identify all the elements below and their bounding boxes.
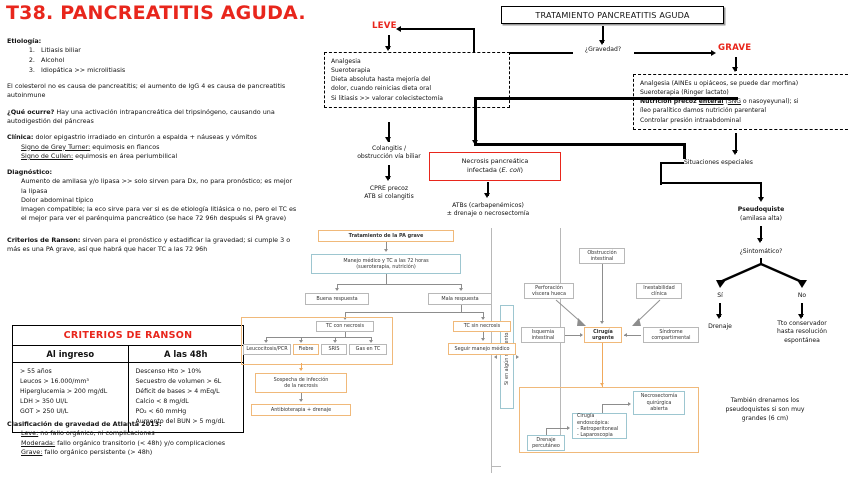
sintomatico-question: ¿Sintomático? — [712, 248, 810, 256]
page-title: T38. PANCREATITIS AGUDA. — [6, 2, 306, 24]
arrow-down-icon — [459, 288, 463, 291]
arrow-down-icon — [333, 340, 337, 343]
atlanta-heading: Clasificación de gravedad de Atlanta 201… — [7, 420, 297, 429]
conservador-line1: Tto conservador — [777, 320, 827, 327]
signo-cullen-text: equimosis en área periumbilical — [73, 152, 177, 160]
table-row: Calcio < 8 mg/dL — [136, 397, 239, 407]
endoscopica-line1: Cirugía endoscópica: — [577, 413, 624, 426]
conservador-label: Tto conservadorhasta resoluciónespontáne… — [756, 320, 848, 345]
clinica-label: Clínica: — [7, 133, 33, 141]
nota-line2: pseudoquistes si son muy — [725, 406, 804, 413]
arrow-down-icon — [599, 40, 605, 45]
arrow-down-icon — [600, 383, 604, 386]
cpre-line2: ATB si colangitis — [364, 193, 414, 200]
tc-sin-necrosis-box: TC sin necrosis — [453, 321, 511, 332]
grave-line: íleo paralítico damos nutrición parenter… — [640, 106, 846, 115]
obstruccion-intestinal-box: Obstrucciónintestinal — [579, 248, 625, 264]
atlanta-item: Moderada: fallo orgánico transitorio (< … — [21, 439, 297, 448]
leve-line: Analgesia — [331, 57, 503, 66]
column-header: Al ingreso — [13, 346, 129, 362]
arrow-right-icon — [628, 402, 631, 406]
atlanta-item-text: no fallo orgánico, ni complicaciones — [38, 429, 154, 437]
table-row: > 55 años — [20, 367, 123, 377]
connector-cirugia-opciones — [602, 343, 603, 387]
arrow-down-icon — [335, 288, 339, 291]
split-bar-tc — [345, 312, 484, 313]
arrow-down-icon — [385, 46, 391, 51]
connector-endoscopica-right — [602, 404, 628, 405]
que-ocurre-paragraph: ¿Qué ocurre? Hay una activación intrapan… — [7, 108, 297, 127]
arrow-left-icon — [396, 26, 401, 32]
column-header: A las 48h — [129, 346, 244, 362]
colangitis-line2: obstrucción vía biliar — [357, 153, 421, 160]
sindrome-line2: compartimental — [652, 335, 691, 341]
atbs-line2: ± drenaje o necrosectomía — [447, 210, 530, 217]
diagnostico-item: Imagen compatible; la eco sirve para ver… — [21, 205, 297, 224]
antibioterapia-box: Antibioterapia + drenaje — [251, 404, 351, 416]
leve-line: dolor, cuando reinicias dieta oral — [331, 84, 503, 93]
pa-grave-box: Tratamiento de la PA grave — [318, 230, 454, 242]
atlanta-item: Grave: fallo orgánico persistente (> 48h… — [21, 448, 297, 457]
leve-line: Sueroterapia — [331, 66, 503, 75]
signo-grey-turner-text: equimosis en flancos — [90, 143, 159, 151]
subdiagram-frame-corner — [491, 466, 501, 468]
ranson-criteria-table: CRITERIOS DE RANSON Al ingreso A las 48h… — [12, 325, 244, 433]
drenaje-percutaneo-box: Drenajepercutáneo — [527, 435, 565, 451]
grave-line: Analgesia (AINEs u opiáceos, se puede da… — [640, 79, 846, 88]
atbs-label: ATBs (carbapenémicos)± drenaje o necrose… — [422, 202, 554, 219]
ranson-table-title: CRITERIOS DE RANSON — [13, 326, 243, 346]
table-row: LDH > 350 UI/L — [20, 397, 123, 407]
list-item: Alcohol — [37, 56, 297, 66]
colesterol-note: El colesterol no es causa de pancreatiti… — [7, 82, 297, 101]
connector-gravedad-right — [634, 52, 713, 54]
necrosis-infectada-box: Necrosis pancreática infectada (E. coli) — [429, 152, 561, 181]
connector-percutaneo-up — [546, 428, 547, 435]
cpre-line1: CPRE precoz — [370, 185, 408, 192]
connector-left-up — [473, 28, 475, 53]
arrow-down-icon — [385, 137, 391, 142]
trunk-horizontal-top — [474, 97, 738, 100]
nota-line1: También drenamos los — [731, 397, 799, 404]
pseudoquiste-sub: (amilasa alta) — [712, 215, 810, 223]
ranson-label: Criterios de Ranson: — [7, 236, 80, 244]
colangitis-line1: Colangitis / — [372, 145, 406, 152]
mala-respuesta-box: Mala respuesta — [428, 293, 492, 305]
atlanta-item-label: Leve: — [21, 429, 38, 437]
arrow-down-icon — [481, 338, 485, 341]
si-label: Sí — [698, 292, 742, 300]
criterio-fiebre-box: Fiebre — [293, 344, 319, 355]
arrow-down-icon — [716, 314, 722, 319]
necrosectomia-box: Necrosectomíaquirúrgicaabierta — [633, 391, 685, 415]
arrow-down-icon — [472, 140, 478, 145]
clinica-paragraph: Clínica: dolor epigastrio irradiado en c… — [7, 133, 297, 142]
sospecha-infeccion-box: Sospecha de infección de la necrosis — [255, 373, 347, 393]
obstruccion-line2: intestinal — [591, 256, 614, 262]
list-item: Idiopática >> microlitiasis — [37, 66, 297, 76]
trunk-vertical-right — [683, 143, 686, 159]
diagnostico-item: Aumento de amilasa y/o lipasa >> solo si… — [21, 177, 297, 196]
arrow-down-icon — [299, 399, 303, 402]
split-branches — [700, 260, 824, 290]
diagnostico-item: Dolor abdominal típico — [21, 196, 297, 205]
arrow-down-icon — [299, 340, 303, 343]
sospecha-line2: de la necrosis — [284, 383, 318, 389]
signo-grey-turner-label: Signo de Grey Turner: — [21, 143, 90, 151]
nota-pseudoquistes: También drenamos lospseudoquistes si son… — [690, 396, 840, 423]
connector-manejo-split — [386, 274, 387, 284]
necrosis-line2: infectada (E. coli) — [467, 166, 523, 174]
endoscopica-line3: - Laparoscopia — [577, 432, 613, 438]
criterio-sris-box: SRIS — [321, 344, 347, 355]
etiologia-list: Litiasis biliar Alcohol Idiopática >> mi… — [7, 46, 297, 75]
pseudoquiste-label: Pseudoquiste — [712, 206, 810, 214]
buena-respuesta-box: Buena respuesta — [305, 293, 369, 305]
arrow-left-icon — [624, 333, 627, 337]
atlanta-item: Leve: no fallo orgánico, ni complicacion… — [21, 429, 297, 438]
flow-header-box: TRATAMIENTO PANCREATITIS AGUDA — [501, 6, 724, 24]
arrow-down-icon — [481, 317, 485, 320]
criterios-fan-bar — [266, 337, 372, 338]
cirugia-endoscopica-box: Cirugía endoscópica:- Retroperitoneal- L… — [572, 413, 627, 439]
conservador-line3: espontánea — [784, 337, 820, 344]
table-row: Leucos > 16.000/mm³ — [20, 377, 123, 387]
trunk-vertical-left — [474, 97, 477, 146]
grave-label: GRAVE — [718, 43, 751, 53]
trunk-horizontal-bottom — [474, 143, 686, 146]
no-label: No — [780, 292, 824, 300]
signo-cullen: Signo de Cullen: equimosis en área periu… — [21, 152, 297, 161]
arrow-down-icon — [264, 340, 268, 343]
manejo-medico-box: Manejo médico y TC a las 72 horas (suero… — [311, 254, 461, 274]
leve-line: Dieta absoluta hasta mejoría del — [331, 75, 503, 84]
arrow-left-icon — [494, 355, 497, 359]
situaciones-horizontal — [660, 182, 762, 184]
clinica-text: dolor epigastrio irradiado en cinturón a… — [33, 133, 256, 141]
cirugia-diagonal-arrows — [520, 296, 700, 332]
arrow-down-icon — [732, 67, 738, 72]
grave-treatment-box: Analgesia (AINEs u opiáceos, se puede da… — [633, 74, 848, 130]
grave-line: Sueroterapia (Ringer lactato) — [640, 88, 846, 97]
atlanta-item-label: Moderada: — [21, 439, 55, 447]
necrosis-line1: Necrosis pancreática — [462, 157, 529, 165]
arrow-right-icon — [580, 333, 583, 337]
que-ocurre-label: ¿Qué ocurre? — [7, 108, 54, 116]
atbs-line1: ATBs (carbapenémicos) — [452, 202, 524, 209]
arrow-down-icon — [369, 340, 373, 343]
arrow-right-icon — [516, 355, 519, 359]
cirugia-line2: urgente — [592, 335, 614, 341]
arrow-right-icon — [567, 426, 570, 430]
grave-line: Controlar presión intraabdominal — [640, 116, 846, 125]
list-item: Litiasis biliar — [37, 46, 297, 56]
atlanta-item-text: fallo orgánico transitorio (< 48h) y/o c… — [55, 439, 225, 447]
ranson-paragraph: Criterios de Ranson: sirven para el pron… — [7, 236, 297, 255]
seguir-manejo-box: Seguir manejo médico — [448, 343, 516, 355]
atlanta-item-text: fallo orgánico persistente (> 48h) — [42, 448, 152, 456]
table-row: Hiperglucemia > 200 mg/dL — [20, 387, 123, 397]
connector-to-leve — [400, 28, 474, 30]
e-coli-italic: E. coli — [501, 166, 520, 174]
table-row: Descenso Hto > 10% — [136, 367, 239, 377]
connector-endoscopica-up — [602, 404, 603, 413]
connector-mala-down — [461, 305, 462, 312]
etiologia-heading: Etiología: — [7, 37, 297, 46]
atlanta-classification: Clasificación de gravedad de Atlanta 201… — [7, 420, 297, 457]
arrow-down-icon — [798, 314, 804, 319]
table-row: GOT > 250 UI/L — [20, 407, 123, 417]
criterio-leucocitosis-box: Leucocitosis/PCR — [243, 344, 291, 355]
signo-cullen-label: Signo de Cullen: — [21, 152, 73, 160]
nota-line3: grandes (6 cm) — [742, 415, 789, 422]
criterio-gas-box: Gas en TC — [349, 344, 387, 355]
arrow-down-icon — [384, 249, 388, 252]
situaciones-especiales-label: Situaciones especiales — [684, 159, 794, 167]
split-bar-respuesta — [337, 284, 462, 285]
cpre-label: CPRE precozATB si colangitis — [334, 185, 444, 202]
atlanta-item-label: Grave: — [21, 448, 42, 456]
arrow-down-icon — [758, 197, 764, 202]
si-en-algun-momento-text: Si en algún momento... — [504, 328, 510, 385]
table-row: Déficit de bases > 4 mEq/L — [136, 387, 239, 397]
arrow-right-icon — [711, 50, 716, 56]
arrow-down-icon — [757, 238, 763, 243]
ranson-table-header: Al ingreso A las 48h — [13, 346, 243, 363]
arrow-down-icon — [385, 176, 391, 181]
arrow-down-icon — [732, 150, 738, 155]
percutaneo-line2: percutáneo — [532, 443, 560, 449]
connector-percutaneo-right — [546, 428, 568, 429]
nutricion-post: o nasoyeyunal); si — [741, 98, 798, 105]
table-row: PO₂ < 60 mmHg — [136, 407, 239, 417]
arrow-down-icon — [484, 193, 490, 198]
leve-label: LEVE — [372, 21, 397, 31]
necrosectomia-line3: abierta — [650, 406, 667, 412]
arrow-down-icon — [299, 368, 303, 371]
situaciones-tick — [660, 162, 684, 164]
notes-column: Etiología: Litiasis biliar Alcohol Idiop… — [7, 37, 297, 254]
conservador-line2: hasta resolución — [777, 328, 827, 335]
manejo-line2: (sueroterapia, nutrición) — [356, 264, 416, 270]
isquemia-line2: intestinal — [532, 335, 555, 341]
table-row: Secuestro de volumen > 6L — [136, 377, 239, 387]
gravedad-question: ¿Gravedad? — [575, 46, 631, 54]
signo-grey-turner: Signo de Grey Turner: equimosis en flanc… — [21, 143, 297, 152]
diagnostico-heading: Diagnóstico: — [7, 168, 297, 177]
